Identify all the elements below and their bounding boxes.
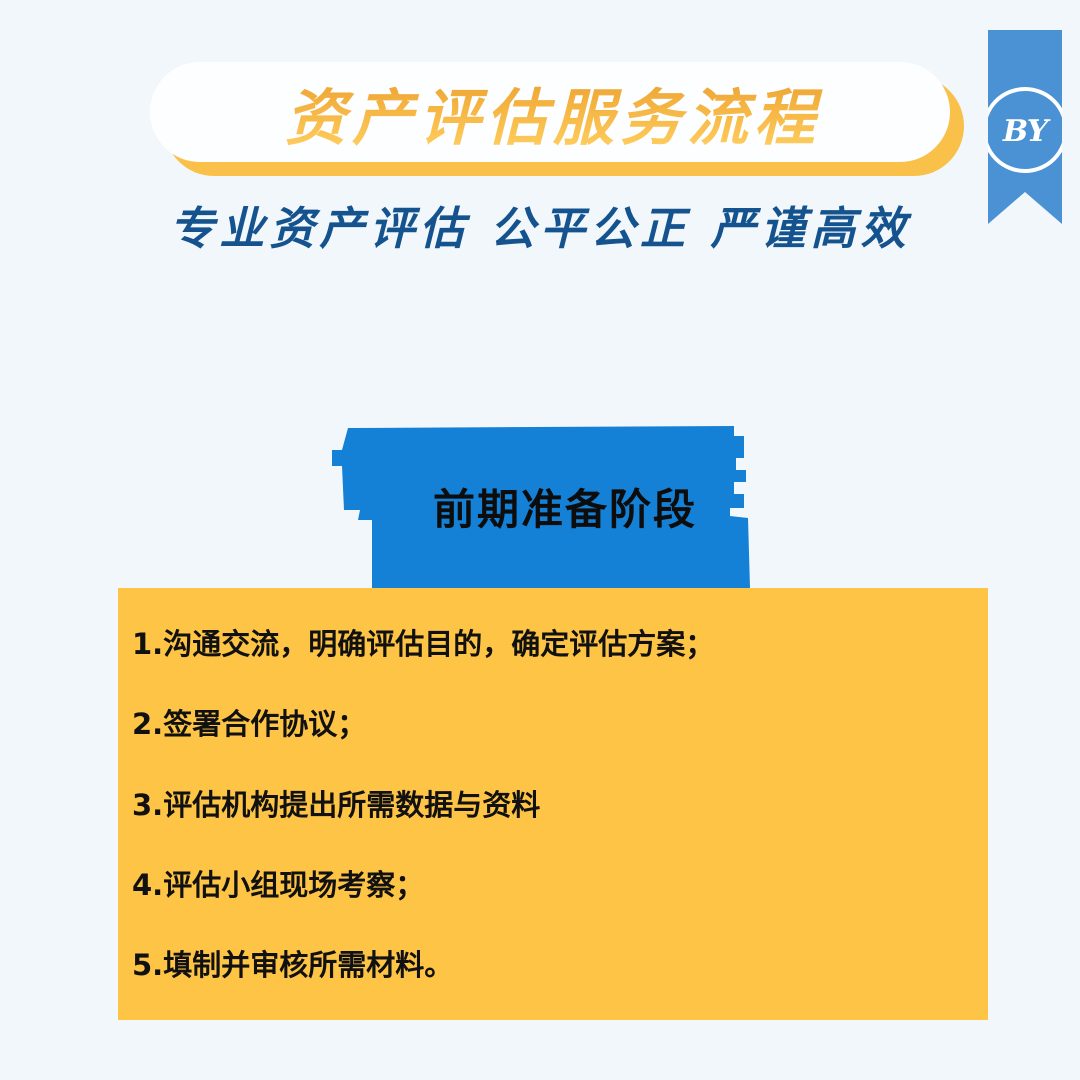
poster-canvas: 资产评估服务流程 专业资产评估 公平公正 严谨高效 BY 前期准备阶段 1.沟通…: [0, 0, 1080, 1080]
list-item: 4.评估小组现场考察；: [132, 867, 958, 903]
list-item: 3.评估机构提出所需数据与资料: [132, 787, 958, 823]
stage-content-panel: 1.沟通交流，明确评估目的，确定评估方案； 2.签署合作协议； 3.评估机构提出…: [118, 588, 988, 1020]
process-step-list: 1.沟通交流，明确评估目的，确定评估方案； 2.签署合作协议； 3.评估机构提出…: [132, 626, 958, 983]
torn-paper-shape-icon: [330, 424, 770, 592]
ribbon-shape-icon: [988, 30, 1062, 224]
list-item: 1.沟通交流，明确评估目的，确定评估方案；: [132, 626, 958, 662]
list-item: 2.签署合作协议；: [132, 706, 958, 742]
list-item: 5.填制并审核所需材料。: [132, 947, 958, 983]
page-title-banner: 资产评估服务流程: [150, 62, 950, 170]
stage-header-banner: 前期准备阶段: [330, 424, 770, 592]
ribbon-seal-icon: BY: [988, 30, 1062, 224]
page-subtitle: 专业资产评估 公平公正 严谨高效: [0, 192, 1080, 257]
page-title: 资产评估服务流程: [150, 62, 950, 162]
